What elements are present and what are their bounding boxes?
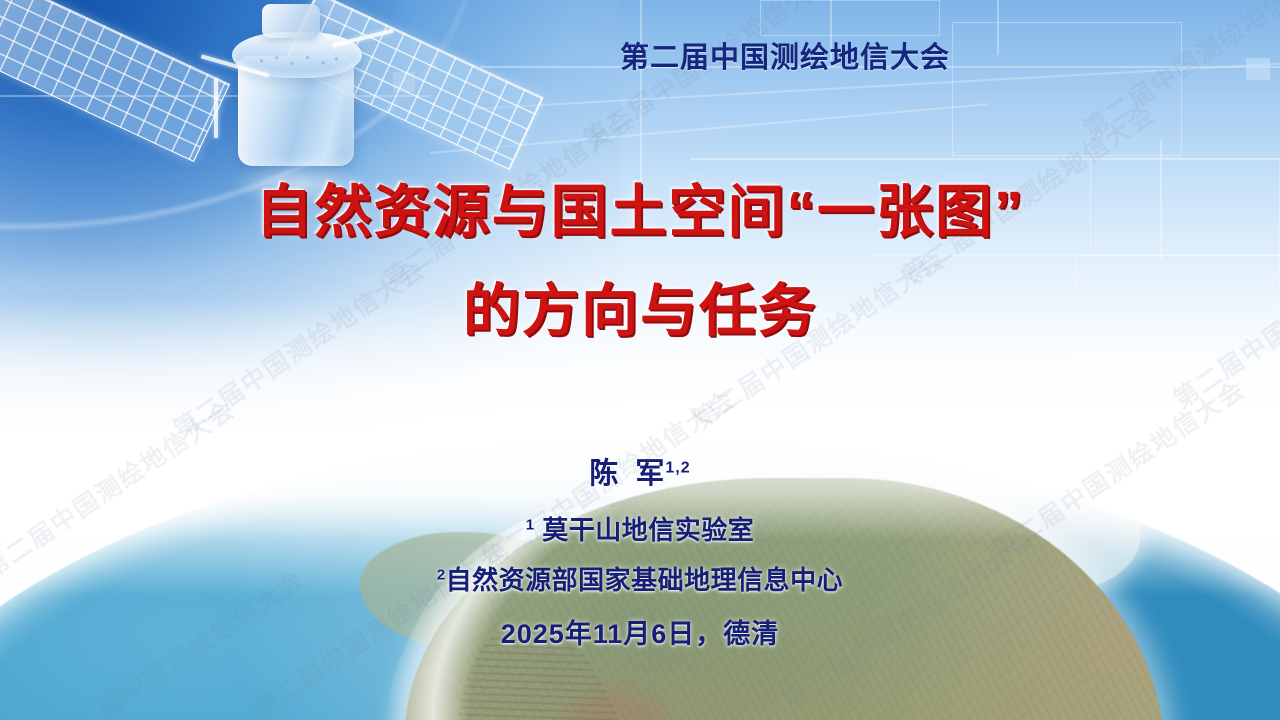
title-line-2: 的方向与任务 <box>0 283 1280 340</box>
title-line-1: 自然资源与国土空间“一张图” <box>0 184 1280 241</box>
conference-header: 第二届中国测绘地信大会 <box>0 34 1280 76</box>
satellite-solar-panel-left <box>0 0 230 162</box>
grid-line-vertical <box>640 0 642 186</box>
affiliation-2: 2自然资源部国家基础地理信息中心 <box>0 560 1280 597</box>
satellite-antenna <box>214 78 218 138</box>
author-name: 陈军1,2 <box>0 450 1280 492</box>
author-affiliation-marks: 1,2 <box>665 459 690 476</box>
slide-title: 自然资源与国土空间“一张图” 的方向与任务 <box>0 184 1280 340</box>
affiliation-1-label: 莫干山地信实验室 <box>535 515 755 545</box>
satellite-top-module <box>262 4 320 38</box>
author-block: 陈军1,2 1 莫干山地信实验室 2自然资源部国家基础地理信息中心 2025年1… <box>0 450 1280 651</box>
affiliation-2-label: 自然资源部国家基础地理信息中心 <box>446 565 844 595</box>
author-surname: 陈 <box>589 458 619 490</box>
date-and-location: 2025年11月6日，德清 <box>0 612 1280 651</box>
presentation-slide: 第二届中国测绘地信大会 第二届中国测绘地信大会 第二届中国测绘地信大会 第二届中… <box>0 0 1280 720</box>
author-given-name: 军 <box>635 458 665 490</box>
affiliation-1-mark: 1 <box>526 516 535 533</box>
affiliation-2-mark: 2 <box>437 566 446 583</box>
conference-name-label: 第二届中国测绘地信大会 <box>620 34 950 76</box>
affiliation-1: 1 莫干山地信实验室 <box>0 510 1280 547</box>
grid-rectangle <box>760 0 940 36</box>
